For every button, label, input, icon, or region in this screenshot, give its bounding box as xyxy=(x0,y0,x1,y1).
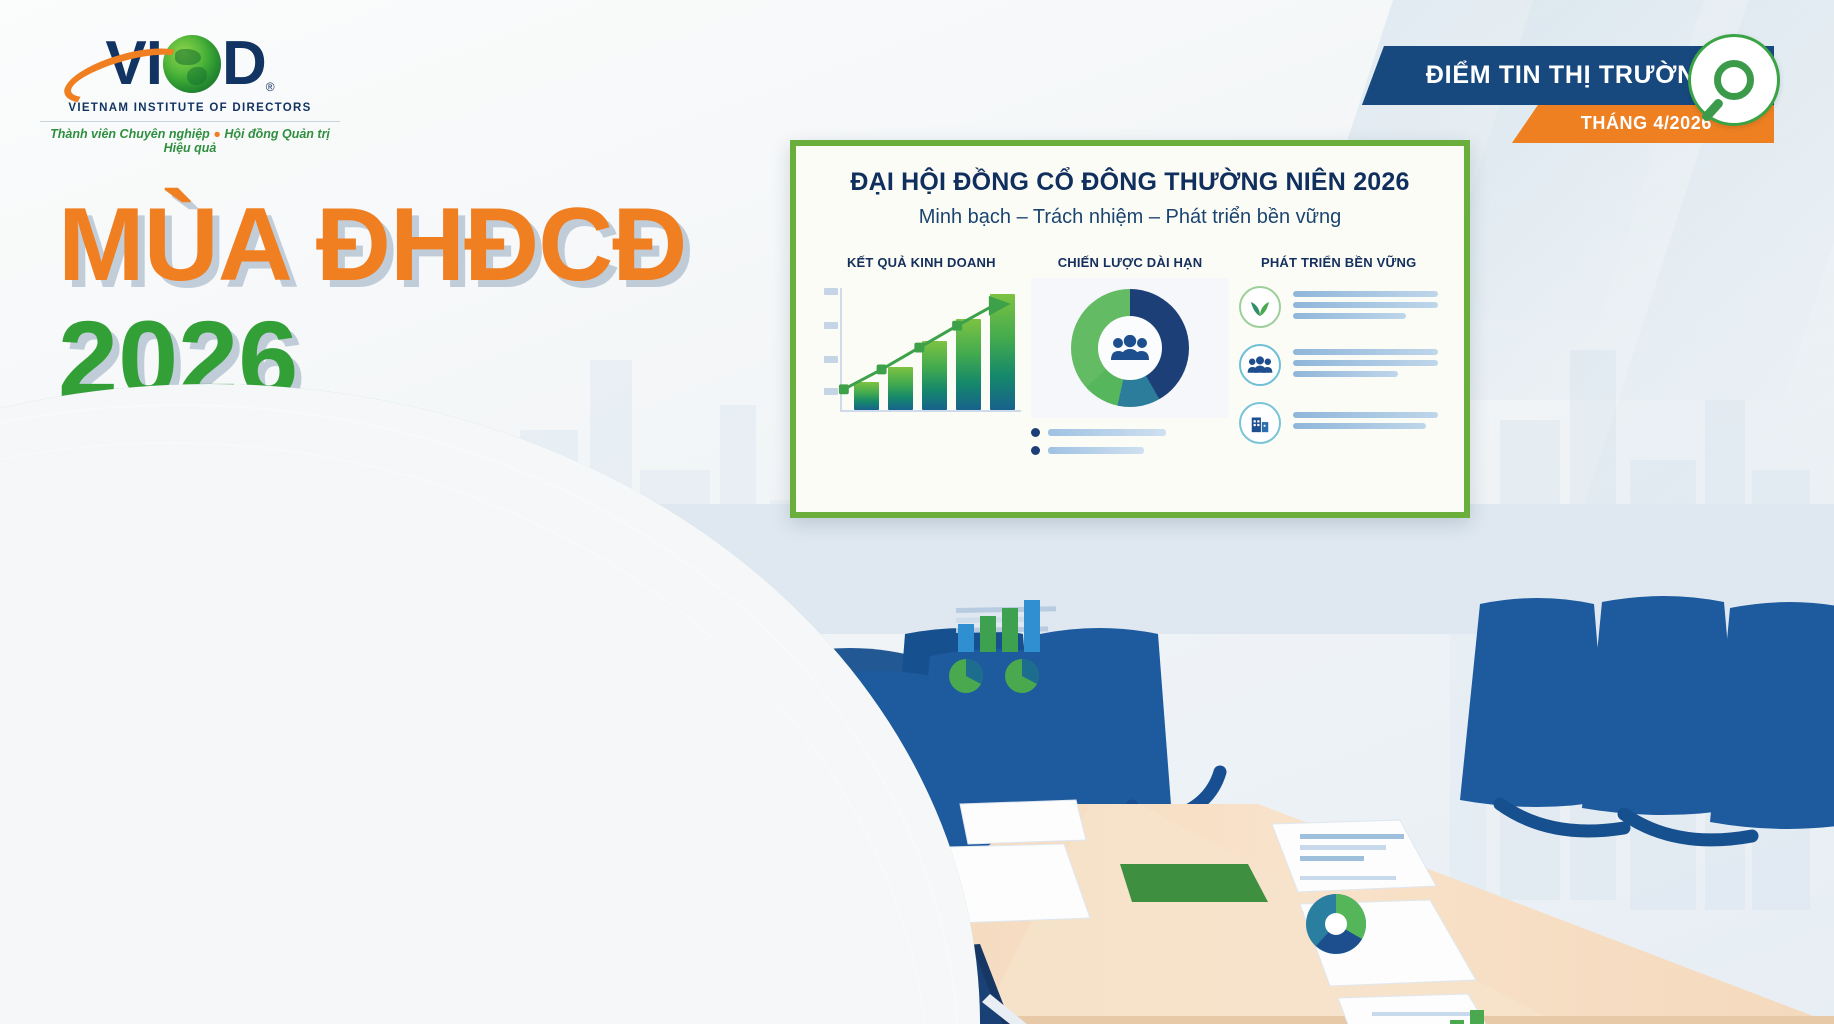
poster-canvas: V I D ® VIETNAM INSTITUTE OF DIRECTORS T… xyxy=(0,0,1834,1024)
screen-column-sustainability: PHÁT TRIỂN BỀN VỮNG xyxy=(1239,255,1438,464)
headline-line-1: MÙA ĐHĐCĐ xyxy=(58,196,686,295)
trend-line-arrow xyxy=(822,284,1021,423)
presentation-screen: ĐẠI HỘI ĐỒNG CỔ ĐÔNG THƯỜNG NIÊN 2026 Mi… xyxy=(790,140,1470,518)
viod-logo: V I D ® VIETNAM INSTITUTE OF DIRECTORS T… xyxy=(40,28,340,155)
bullet-dot xyxy=(1031,446,1040,455)
sustainability-list xyxy=(1239,286,1438,444)
leaf-icon xyxy=(1239,286,1281,328)
logo-letter-i: I xyxy=(146,33,162,95)
sustainability-lines xyxy=(1293,349,1438,382)
logo-letter-v: V xyxy=(105,33,145,95)
magnifier-glyph xyxy=(1714,60,1754,100)
screen-subtitle: Minh bạch – Trách nhiệm – Phát triển bền… xyxy=(822,206,1438,229)
sustainability-row xyxy=(1239,402,1438,444)
leaf-glyph xyxy=(1248,295,1272,319)
donut-chart-icon xyxy=(1031,278,1230,418)
bullet-line xyxy=(1048,429,1166,436)
screen-column-results: KẾT QUẢ KINH DOANH xyxy=(822,255,1021,464)
logo-letter-d: D xyxy=(222,33,266,95)
logo-wordmark: V I D ® xyxy=(40,28,340,100)
building-icon xyxy=(1239,402,1281,444)
logo-tagline-left: Thành viên Chuyên nghiệp xyxy=(50,127,210,141)
people-group-icon xyxy=(1239,344,1281,386)
bullet-item xyxy=(1031,428,1230,437)
bullet-line xyxy=(1048,447,1144,454)
logo-tagline-separator: ● xyxy=(213,127,221,141)
text-line xyxy=(1293,360,1438,366)
poster-headline: MÙA ĐHĐCĐ 2026 xyxy=(58,196,686,413)
bullet-dot xyxy=(1031,428,1040,437)
logo-institute-name: VIETNAM INSTITUTE OF DIRECTORS xyxy=(40,102,340,114)
globe-icon xyxy=(163,35,221,93)
people-glyph xyxy=(1247,355,1273,375)
people-group-icon xyxy=(1110,335,1150,361)
magnifier-icon xyxy=(1688,34,1780,126)
text-line xyxy=(1293,291,1438,297)
sustainability-row xyxy=(1239,286,1438,328)
text-line xyxy=(1293,349,1438,355)
donut-center xyxy=(1098,316,1162,380)
text-line xyxy=(1293,412,1438,418)
market-news-ribbon: ĐIỂM TIN THỊ TRƯỜNG THÁNG 4/2026 xyxy=(1362,46,1774,143)
column-heading-results: KẾT QUẢ KINH DOANH xyxy=(822,255,1021,270)
sustainability-lines xyxy=(1293,412,1438,434)
text-line xyxy=(1293,371,1397,377)
column-heading-sustainability: PHÁT TRIỂN BỀN VỮNG xyxy=(1239,255,1438,270)
sustainability-lines xyxy=(1293,291,1438,324)
bullet-item xyxy=(1031,446,1230,455)
text-line xyxy=(1293,423,1426,429)
bar-chart-icon xyxy=(822,284,1021,420)
screen-title: ĐẠI HỘI ĐỒNG CỔ ĐÔNG THƯỜNG NIÊN 2026 xyxy=(822,168,1438,197)
text-line xyxy=(1293,302,1438,308)
text-line xyxy=(1293,313,1406,319)
building-glyph xyxy=(1249,412,1271,434)
logo-tagline: Thành viên Chuyên nghiệp ● Hội đồng Quản… xyxy=(40,127,340,155)
donut-ring xyxy=(1071,289,1189,407)
logo-divider xyxy=(40,121,340,122)
registered-mark: ® xyxy=(266,80,275,94)
strategy-bullets xyxy=(1031,428,1230,455)
sustainability-row xyxy=(1239,344,1438,386)
column-heading-strategy: CHIẾN LƯỢC DÀI HẠN xyxy=(1031,255,1230,270)
screen-column-strategy: CHIẾN LƯỢC DÀI HẠN xyxy=(1031,255,1230,464)
